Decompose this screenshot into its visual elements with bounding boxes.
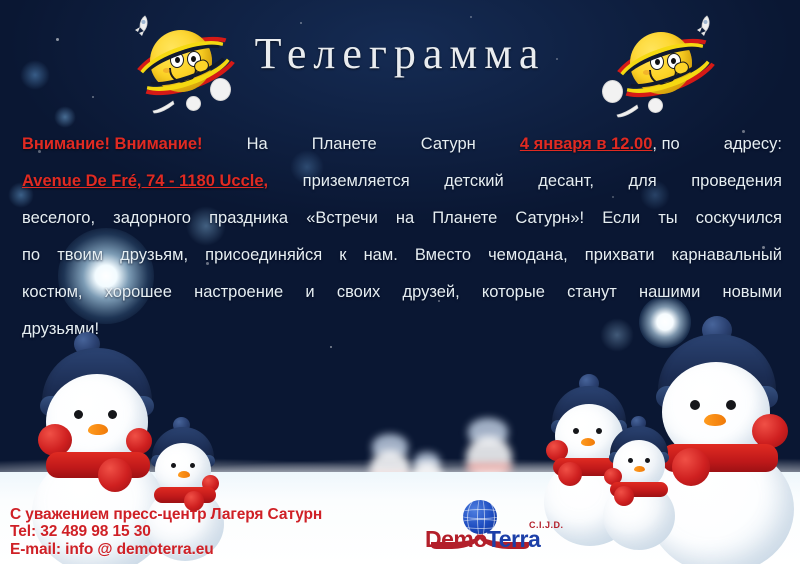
moonlet-large (210, 78, 231, 101)
carrot-nose (634, 466, 645, 472)
footer-email: E-mail: info @ demoterra.eu (10, 541, 322, 559)
rocket-icon-bottom (150, 98, 176, 114)
moonlet-small (186, 96, 201, 111)
carrot-nose (704, 414, 726, 426)
footer-contact-block: С уважением пресс-центр Лагеря Сатурн Te… (10, 506, 322, 559)
scarf-knot (98, 458, 132, 492)
footer-signature: С уважением пресс-центр Лагеря Сатурн (10, 506, 322, 524)
eye-left (628, 458, 633, 463)
message-line-5: костюм, хорошее настроение и своих друзе… (22, 274, 782, 311)
eye-left (171, 463, 176, 468)
event-address: Avenue De Fré, 74 - 1180 Uccle, (22, 163, 268, 200)
logo-word-terra: Terra (487, 526, 540, 552)
footer-phone: Tel: 32 489 98 15 30 (10, 523, 322, 541)
snowman-right-small (600, 414, 690, 564)
demoterra-logo: C.I.J.D. DemoTerra (425, 500, 575, 556)
telegram-poster: Телеграмма (0, 0, 800, 564)
message-line-3: веселого, задорного праздника «Встречи н… (22, 200, 782, 237)
telegram-message-body: Внимание! Внимание! На Планете Сатурн 4 … (22, 126, 782, 348)
eye-left (74, 410, 83, 419)
carrot-nose (88, 424, 108, 435)
message-line-1: Внимание! Внимание! На Планете Сатурн 4 … (22, 126, 782, 163)
eye-left (573, 428, 579, 434)
moonlet-small (648, 98, 663, 113)
saturn-icon-right (608, 14, 720, 114)
scarf-pompom-right (752, 414, 788, 448)
logo-word-demo: Demo (425, 526, 487, 552)
scarf-knot (614, 486, 634, 506)
eye-right (190, 463, 195, 468)
event-datetime: 4 января в 12.00, по (520, 126, 680, 163)
moonlet-large (602, 80, 623, 103)
carrot-nose (581, 438, 595, 446)
scarf-knot (558, 462, 582, 486)
eye-right (108, 410, 117, 419)
message-line-4: по твоим друзьям, присоединяйся к нам. В… (22, 237, 782, 274)
attention-text: Внимание! Внимание! (22, 126, 203, 163)
logo-wordmark: DemoTerra (425, 526, 575, 553)
eye-right (726, 400, 736, 410)
eye-right (645, 458, 650, 463)
rocket-icon-top (692, 14, 714, 38)
eye-left (690, 400, 700, 410)
rocket-icon-bottom (614, 102, 640, 118)
carrot-nose (178, 471, 190, 478)
poster-header: Телеграмма (0, 0, 800, 118)
message-line-2: Avenue De Fré, 74 - 1180 Uccle, приземля… (22, 163, 782, 200)
